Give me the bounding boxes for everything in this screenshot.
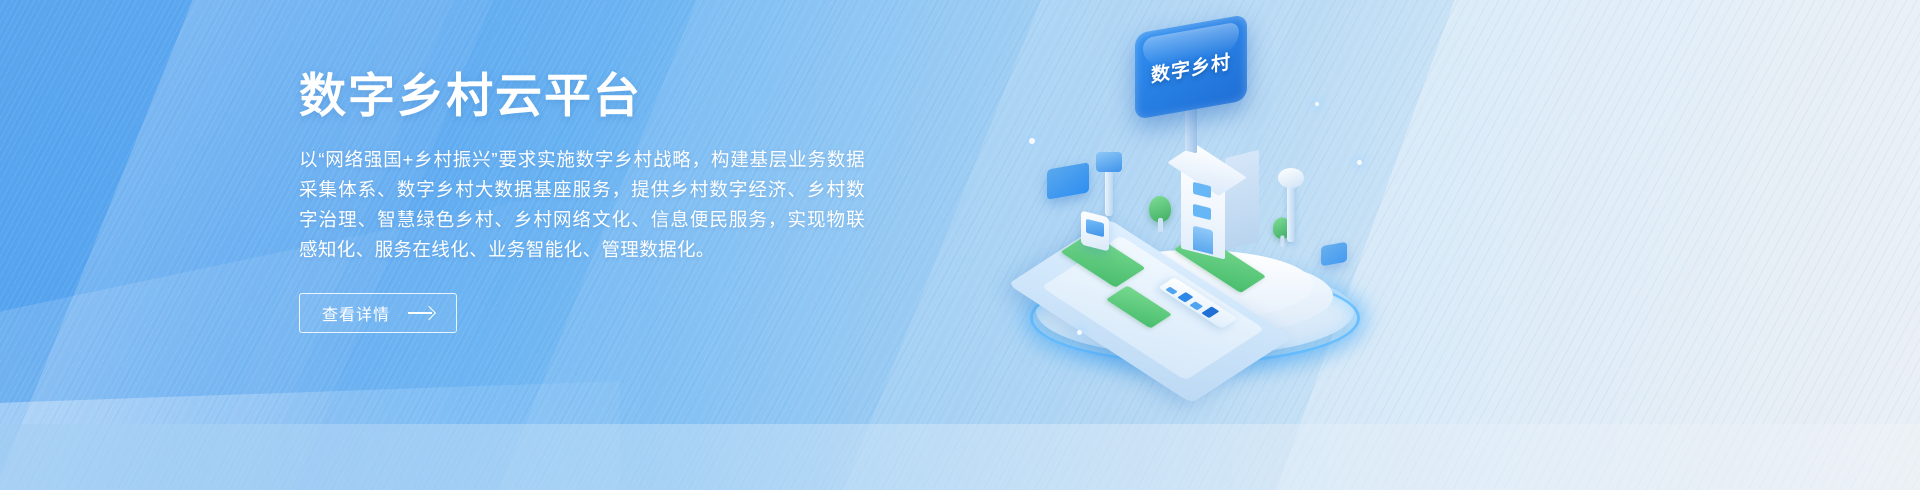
sparkle-dot [1315, 102, 1319, 106]
sensor-pole [1105, 168, 1113, 216]
building-side-face [1225, 150, 1259, 250]
background-hatch-light [0, 0, 1920, 490]
view-details-label: 查看详情 [322, 301, 390, 325]
signboard-label: 数字乡村 [1135, 14, 1247, 120]
street-lamp [1287, 184, 1295, 242]
background-facet-f [0, 381, 620, 490]
lamp-head-icon [1278, 168, 1304, 188]
floating-card-b [1321, 242, 1347, 267]
building-door [1193, 226, 1213, 255]
tree-trunk [1280, 235, 1284, 246]
view-details-button[interactable]: 查看详情 [299, 293, 457, 333]
sparkle-dot [1077, 330, 1082, 335]
page-title: 数字乡村云平台 [299, 72, 939, 119]
banner-description: 以“网络强国+乡村振兴”要求实施数字乡村战略，构建基层业务数据采集体系、数字乡村… [299, 145, 865, 265]
tree-a [1149, 196, 1171, 234]
hero-banner: 数字乡村云平台 以“网络强国+乡村振兴”要求实施数字乡村战略，构建基层业务数据采… [0, 0, 1920, 490]
service-kiosk [1081, 214, 1115, 260]
digital-village-signboard: 数字乡村 [1135, 24, 1259, 144]
banner-content: 数字乡村云平台 以“网络强国+乡村振兴”要求实施数字乡村战略，构建基层业务数据采… [299, 72, 939, 333]
floating-card-a [1047, 162, 1089, 199]
sensor-head-icon [1096, 152, 1122, 172]
digital-village-illustration: 数字乡村 [985, 18, 1405, 390]
background-hatch-dark [0, 0, 1920, 490]
village-building [1181, 144, 1259, 262]
sparkle-dot [1029, 138, 1035, 144]
arrow-right-icon [408, 307, 434, 319]
sparkle-dot [1357, 160, 1362, 165]
background-bottom-band [0, 424, 1920, 490]
tree-trunk [1158, 218, 1163, 232]
